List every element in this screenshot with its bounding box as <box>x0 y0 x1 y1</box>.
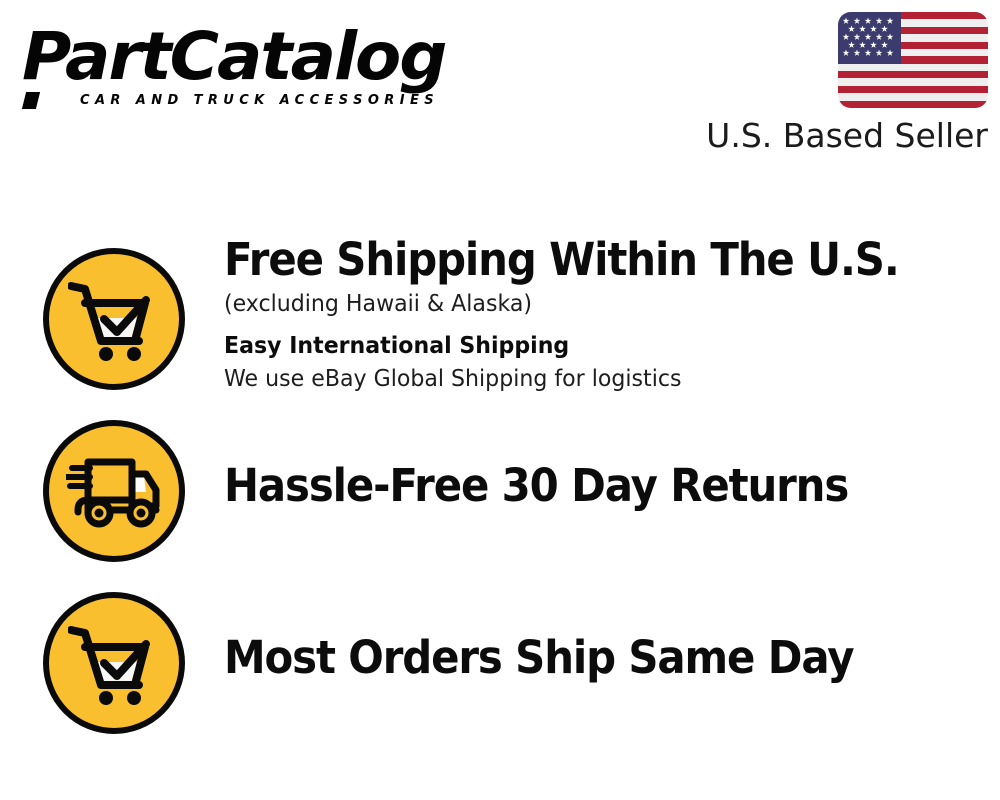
benefit-secondary-subtitle: We use eBay Global Shipping for logistic… <box>224 363 934 395</box>
benefit-subtitle: (excluding Hawaii & Alaska) <box>224 288 934 320</box>
us-flag-icon <box>838 12 988 108</box>
benefit-row: Most Orders Ship Same Day <box>0 574 1000 746</box>
brand-tagline-row: CAR AND TRUCK ACCESSORIES <box>22 92 492 110</box>
shopping-cart-check-icon <box>43 592 185 734</box>
benefit-title: Hassle-Free 30 Day Returns <box>224 460 912 512</box>
flag-stripe <box>838 78 988 85</box>
brand-tagline: CAR AND TRUCK ACCESSORIES <box>80 93 439 108</box>
us-based-seller-label: U.S. Based Seller <box>706 118 988 154</box>
benefit-row: Free Shipping Within The U.S. (excluding… <box>0 230 1000 402</box>
shopping-cart-check-icon <box>43 248 185 390</box>
delivery-truck-icon <box>43 420 185 562</box>
flag-canton <box>838 12 901 64</box>
benefit-secondary-title: Easy International Shipping <box>224 329 934 363</box>
flag-stripe <box>838 71 988 78</box>
benefit-text-block: Free Shipping Within The U.S. (excluding… <box>224 234 964 395</box>
flag-stripe <box>838 64 988 71</box>
flag-stripe <box>838 93 988 100</box>
page-header: PartCatalog CAR AND TRUCK ACCESSORIES <box>0 0 1000 175</box>
brand-wordmark: PartCatalog <box>22 24 501 90</box>
flag-stripe <box>838 101 988 108</box>
flag-stripe <box>838 86 988 93</box>
brand-logo[interactable]: PartCatalog CAR AND TRUCK ACCESSORIES <box>22 24 492 110</box>
benefit-title: Most Orders Ship Same Day <box>224 632 912 684</box>
benefit-row: Hassle-Free 30 Day Returns <box>0 402 1000 574</box>
logo-slash-mark <box>22 92 40 109</box>
benefit-text-block: Hassle-Free 30 Day Returns <box>224 460 964 512</box>
benefit-title: Free Shipping Within The U.S. <box>224 234 912 286</box>
benefit-text-block: Most Orders Ship Same Day <box>224 632 964 684</box>
